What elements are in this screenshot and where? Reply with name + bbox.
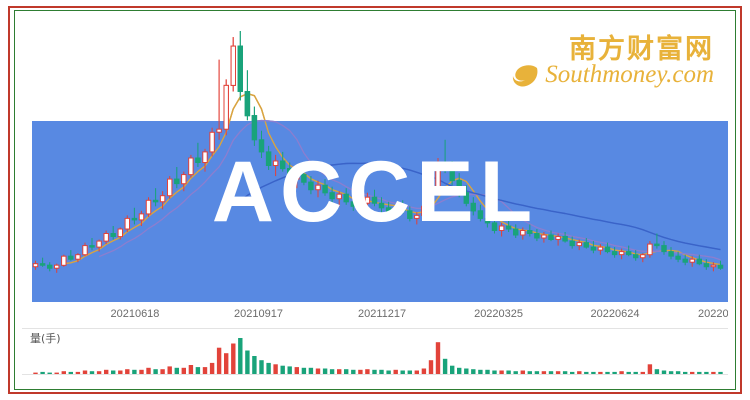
stock-chart[interactable]: ACCEL 南方财富网 Southmoney.com 2021061820210…: [22, 14, 728, 386]
x-axis-tick-label: 202209...: [698, 308, 728, 320]
x-axis-labels: 2021061820210917202112172022032520220624…: [22, 308, 728, 326]
watermark-text: ACCEL: [22, 149, 728, 235]
logo-en-text: Southmoney.com: [545, 62, 714, 88]
swirl-icon: [511, 64, 541, 90]
logo-cn-text: 南方财富网: [545, 36, 714, 64]
volume-bars-svg: [22, 330, 728, 386]
x-axis-tick-label: 20210618: [110, 308, 159, 320]
screenshot-root: ACCEL 南方财富网 Southmoney.com 2021061820210…: [0, 0, 750, 400]
x-axis-tick-label: 20210917: [234, 308, 283, 320]
site-logo: 南方财富网 Southmoney.com: [545, 36, 714, 89]
volume-title: 量(手): [30, 330, 61, 346]
x-axis-tick-label: 20220325: [474, 308, 523, 320]
pane-divider: [22, 328, 728, 329]
volume-pane[interactable]: 量(手): [22, 330, 728, 386]
x-axis-tick-label: 20211217: [358, 308, 406, 320]
x-axis-tick-label: 20220624: [591, 308, 640, 320]
